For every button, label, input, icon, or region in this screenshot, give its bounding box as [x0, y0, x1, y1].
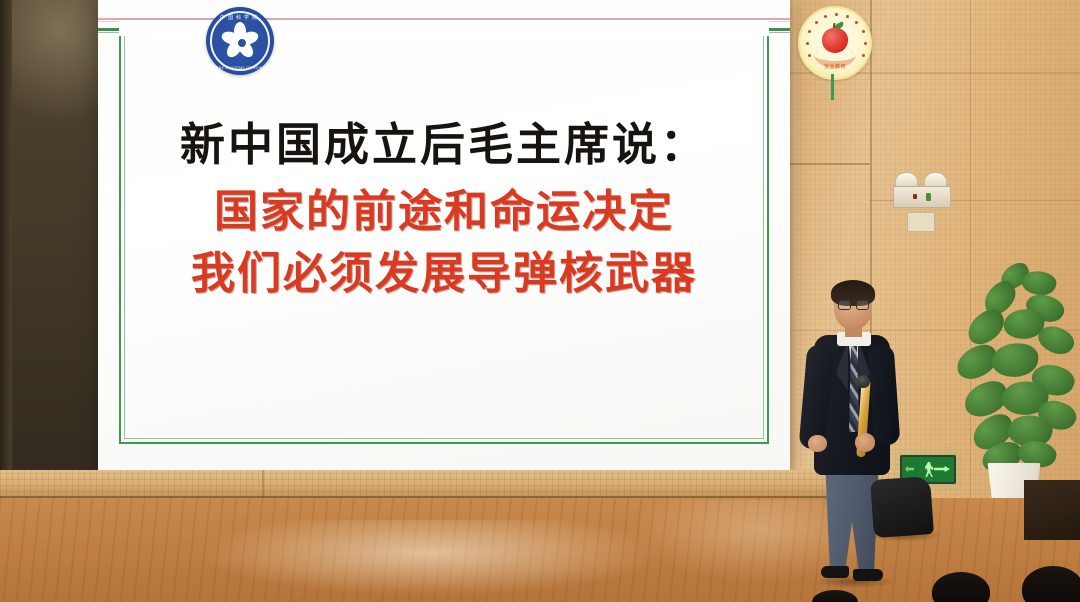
- presenter-hand-right: [855, 433, 875, 452]
- presentation-photo: 中国科学院 CHINESE ACADEMY OF SCIENCES: [0, 0, 1080, 602]
- presenter: [795, 283, 900, 593]
- apple-logo-caption: 安全教育: [800, 63, 870, 70]
- exit-arrow-left-icon: [905, 466, 914, 472]
- running-man-icon: [922, 462, 935, 477]
- stage-edge-texture: [0, 470, 900, 498]
- exit-arrow-right-icon: [934, 466, 950, 472]
- microphone-head-icon: [857, 375, 870, 388]
- presenter-shoe-left: [821, 566, 849, 578]
- chinese-academy-of-sciences-logo-icon: 中国科学院 CHINESE ACADEMY OF SCIENCES: [206, 7, 274, 75]
- floor-reflection: [170, 520, 690, 602]
- emergency-light-indicator: [926, 193, 931, 201]
- stage-back-wall-left: [0, 0, 98, 470]
- atom-flower-icon: [221, 22, 259, 60]
- slide-line-2: 国家的前途和命运决定: [158, 183, 730, 241]
- slide-frame-stem: [831, 74, 834, 100]
- presenter-shoe-right: [853, 569, 883, 581]
- emergency-light-icon: [893, 172, 949, 206]
- projection-screen: 中国科学院 CHINESE ACADEMY OF SCIENCES: [98, 0, 790, 472]
- slide-line-1: 新中国成立后毛主席说：: [158, 118, 730, 173]
- wall-edge: [0, 0, 12, 470]
- glasses-icon: [838, 298, 869, 308]
- side-object: [1024, 480, 1080, 540]
- logo-top-text: 中国科学院: [206, 14, 274, 21]
- apple-in-hands-logo-icon: 安全教育: [798, 6, 872, 80]
- presenter-arm-right: [868, 344, 901, 446]
- audience-head: [1022, 566, 1080, 602]
- emergency-light-indicator-2: [913, 194, 917, 199]
- stage-edge-seam: [262, 470, 264, 498]
- wall-seam: [780, 163, 870, 165]
- logo-bottom-text: CHINESE ACADEMY OF SCIENCES: [206, 66, 274, 70]
- presenter-hand-left: [808, 435, 827, 452]
- emergency-light-body: [893, 186, 951, 208]
- slide-line-3: 我们必须发展导弹核武器: [158, 245, 730, 303]
- slide-text-block: 新中国成立后毛主席说： 国家的前途和命运决定 我们必须发展导弹核武器: [158, 118, 730, 303]
- black-bag: [870, 476, 934, 538]
- wall-switch-plate: [907, 212, 935, 232]
